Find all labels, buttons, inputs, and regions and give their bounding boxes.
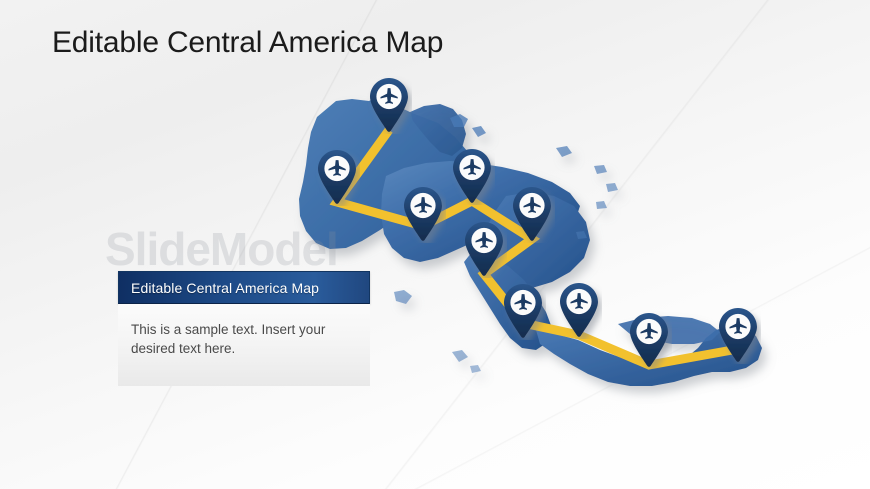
pin-costa-rica[interactable] (500, 282, 546, 340)
pin-guatemala[interactable] (314, 148, 360, 206)
pin-nicaragua[interactable] (461, 220, 507, 278)
text-card-header-label: Editable Central America Map (131, 280, 319, 296)
map-svg (0, 0, 870, 489)
text-card-header: Editable Central America Map (118, 271, 370, 304)
pin-mexico-north[interactable] (366, 76, 412, 134)
pin-el-salvador[interactable] (400, 185, 446, 243)
pin-caribbean[interactable] (715, 306, 761, 364)
central-america-map: SlideModel (0, 0, 870, 489)
pin-honduras-north[interactable] (449, 147, 495, 205)
pin-honduras-east[interactable] (509, 185, 555, 243)
pin-panama-east[interactable] (626, 311, 672, 369)
text-card-body-text: This is a sample text. Insert your desir… (131, 320, 352, 358)
text-card-body[interactable]: This is a sample text. Insert your desir… (118, 304, 370, 386)
pin-panama-west[interactable] (556, 281, 602, 339)
text-card: Editable Central America Map This is a s… (118, 271, 370, 386)
slide-canvas: Editable Central America Map (0, 0, 870, 489)
